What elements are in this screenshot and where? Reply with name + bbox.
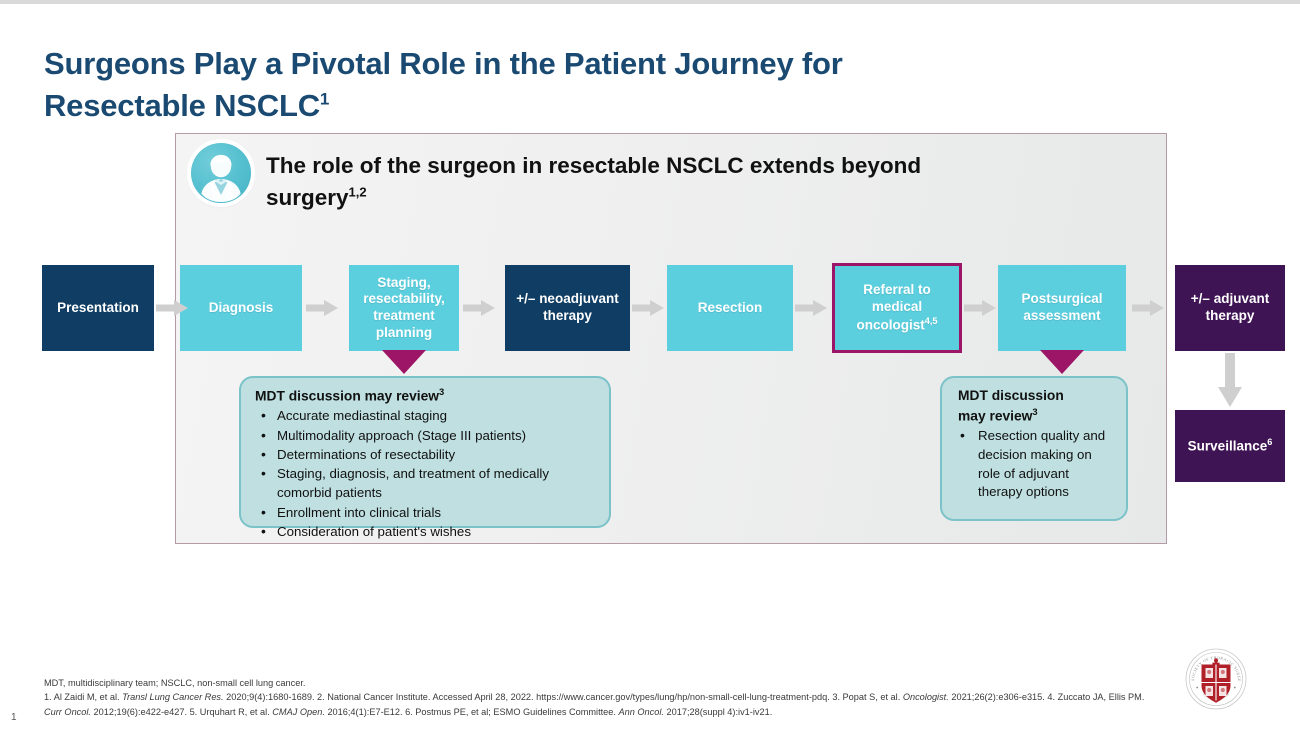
top-accent-rule xyxy=(0,0,1300,4)
page-title-superscript: 1 xyxy=(320,89,329,108)
flow-step-diagnosis-label: Diagnosis xyxy=(209,300,274,317)
list-item: Resection quality and decision making on… xyxy=(958,427,1116,503)
page-title: Surgeons Play a Pivotal Role in the Pati… xyxy=(44,43,1034,127)
arrow-right-icon xyxy=(1132,300,1164,316)
footnotes: MDT, multidisciplinary team; NSCLC, non-… xyxy=(44,676,1154,719)
arrow-right-icon xyxy=(964,300,996,316)
mdt-right-title-line-1: MDT discussion xyxy=(958,388,1064,403)
flow-step-referral-medical-oncologist[interactable]: Referral to medical oncologist4,5 xyxy=(832,263,962,353)
mdt-right-title-line-2: may review xyxy=(958,408,1032,423)
flow-step-resection-label: Resection xyxy=(698,300,763,317)
triangle-down-icon xyxy=(1040,350,1084,374)
mdt-discussion-callout-left: MDT discussion may review3 Accurate medi… xyxy=(239,376,611,528)
mdt-right-title-superscript: 3 xyxy=(1032,407,1037,417)
flow-step-presentation-label: Presentation xyxy=(57,300,139,317)
flow-step-referral-superscript: 4,5 xyxy=(925,316,938,326)
mdt-discussion-callout-right: MDT discussion may review3 Resection qua… xyxy=(940,376,1128,521)
page-title-line-1: Surgeons Play a Pivotal Role in the Pati… xyxy=(44,46,843,81)
arrow-right-icon xyxy=(632,300,664,316)
flow-step-adjuvant-therapy-label: +/– adjuvant therapy xyxy=(1179,291,1281,324)
page-title-line-2: Resectable NSCLC xyxy=(44,88,320,123)
flow-step-surveillance-label: Surveillance xyxy=(1188,438,1268,453)
flow-step-surveillance[interactable]: Surveillance6 xyxy=(1175,410,1285,482)
list-item: Consideration of patient's wishes xyxy=(255,523,597,542)
arrow-right-icon xyxy=(156,300,188,316)
panel-heading-superscript: 1,2 xyxy=(349,184,367,199)
flow-step-referral-label: Referral to medical oncologist xyxy=(856,282,930,332)
arrow-right-icon xyxy=(306,300,338,316)
mdt-left-list: Accurate mediastinal staging Multimodali… xyxy=(255,407,597,542)
doctor-avatar-icon xyxy=(191,143,251,203)
mdt-left-title-text: MDT discussion may review xyxy=(255,389,439,404)
flow-step-neoadjuvant-therapy[interactable]: +/– neoadjuvant therapy xyxy=(505,265,630,351)
panel-heading: The role of the surgeon in resectable NS… xyxy=(266,150,1076,214)
flow-step-diagnosis[interactable]: Diagnosis xyxy=(180,265,302,351)
arrow-right-icon xyxy=(463,300,495,316)
list-item: Enrollment into clinical trials xyxy=(255,504,597,523)
flow-step-adjuvant-therapy[interactable]: +/– adjuvant therapy xyxy=(1175,265,1285,351)
mdt-right-title: MDT discussion may review3 xyxy=(958,387,1116,426)
triangle-down-icon xyxy=(382,350,426,374)
arrow-right-icon xyxy=(795,300,827,316)
panel-heading-line-2: surgery xyxy=(266,185,349,210)
mdt-right-list: Resection quality and decision making on… xyxy=(958,427,1116,503)
flow-step-postsurgical-assessment-label: Postsurgical assessment xyxy=(1002,291,1122,324)
page-number: 1 xyxy=(11,712,17,723)
list-item: Determinations of resectability xyxy=(255,446,597,465)
list-item: Staging, diagnosis, and treatment of med… xyxy=(255,465,597,503)
list-item: Accurate mediastinal staging xyxy=(255,407,597,426)
panel-heading-line-1: The role of the surgeon in resectable NS… xyxy=(266,153,921,178)
flow-step-neoadjuvant-therapy-label: +/– neoadjuvant therapy xyxy=(509,291,626,324)
society-of-thoracic-surgeons-seal: THE SOCIETY OF THORACIC SURGEONS Establi… xyxy=(1184,647,1248,711)
list-item: Multimodality approach (Stage III patien… xyxy=(255,427,597,446)
mdt-left-title-superscript: 3 xyxy=(439,387,444,397)
footnote-references: 1. Al Zaidi M, et al. Transl Lung Cancer… xyxy=(44,690,1154,719)
flow-step-staging-label: Staging, resectability, treatment planni… xyxy=(353,275,455,341)
arrow-down-icon xyxy=(1214,353,1246,407)
flow-step-resection[interactable]: Resection xyxy=(667,265,793,351)
mdt-left-title: MDT discussion may review3 xyxy=(255,386,597,406)
flow-step-staging[interactable]: Staging, resectability, treatment planni… xyxy=(349,265,459,351)
flow-step-surveillance-superscript: 6 xyxy=(1267,437,1272,447)
footnote-abbreviations: MDT, multidisciplinary team; NSCLC, non-… xyxy=(44,676,1154,690)
flow-step-presentation[interactable]: Presentation xyxy=(42,265,154,351)
flow-step-postsurgical-assessment[interactable]: Postsurgical assessment xyxy=(998,265,1126,351)
